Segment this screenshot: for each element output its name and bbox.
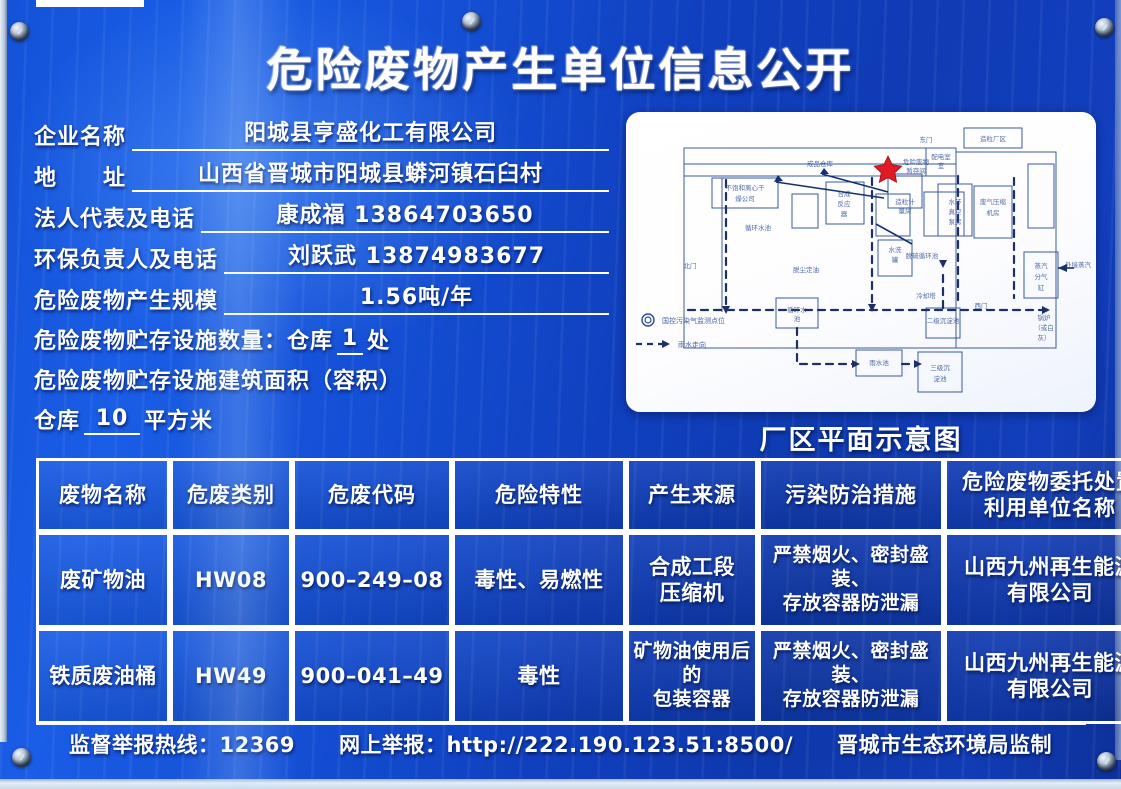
info-value-env-officer: 刘跃武 13874983677 — [224, 238, 609, 274]
svg-text:北门: 北门 — [684, 261, 697, 270]
svg-text:（或白: （或白 — [1034, 323, 1054, 332]
svg-text:锅炉: 锅炉 — [1038, 313, 1052, 322]
info-value-storage-count: 1 — [337, 326, 363, 355]
cell-waste-code: 900–249–08 — [292, 532, 452, 628]
info-unit-storage-area: 平方米 — [144, 403, 213, 435]
svg-text:反应: 反应 — [838, 199, 852, 208]
info-value-address: 山西省晋城市阳城县蟒河镇石臼村 — [132, 156, 609, 192]
svg-text:室: 室 — [938, 161, 945, 170]
svg-text:合成: 合成 — [838, 189, 852, 198]
cell-waste-code: 900–041–49 — [292, 628, 452, 724]
table-header-disposal-unit-line2: 利用单位名称 — [949, 495, 1121, 521]
info-row-storage-count: 危险废物贮存设施数量：仓库 1 处 — [34, 315, 609, 355]
info-label-company-name: 企业名称 — [34, 119, 126, 151]
cell-disposal-unit: 山西九州再生能源 有限公司 — [944, 532, 1121, 628]
cell-disposal-unit-line2: 有限公司 — [949, 676, 1121, 702]
cell-hazard-property: 毒性 — [452, 628, 626, 724]
svg-text:燥公司: 燥公司 — [735, 194, 755, 203]
svg-text:造粒厂区: 造粒厂区 — [980, 134, 1007, 143]
table-header-waste-name: 废物名称 — [36, 458, 170, 532]
svg-text:循环水: 循环水 — [787, 305, 807, 314]
svg-text:西门: 西门 — [975, 301, 988, 310]
cell-source-line2: 压缩机 — [631, 580, 753, 606]
table-header-source: 产生来源 — [626, 458, 758, 532]
cell-source: 矿物油使用后的 包装容器 — [626, 628, 758, 724]
table-header-row: 废物名称 危废类别 危废代码 危险特性 产生来源 污染防治措施 危险废物委托处置… — [36, 458, 1121, 532]
table-header-disposal-unit-line1: 危险废物委托处置 — [949, 469, 1121, 495]
svg-text:暂存间: 暂存间 — [906, 166, 926, 175]
table-header-pollution-control: 污染防治措施 — [758, 458, 944, 532]
cell-pollution-control-line1: 严禁烟火、密封盛装、 — [763, 544, 939, 592]
svg-text:循环水池: 循环水池 — [745, 223, 772, 232]
footer-online-report: 网上举报：http://222.190.123.51:8500/ — [339, 729, 793, 759]
svg-text:造粒计: 造粒计 — [895, 197, 915, 206]
footer-bar: 监督举报热线：12369 网上举报：http://222.190.123.51:… — [0, 729, 1121, 759]
svg-text:三级沉: 三级沉 — [930, 363, 950, 372]
svg-text:二级沉淀池: 二级沉淀池 — [927, 316, 960, 325]
info-value-legal-rep: 康成福 13864703650 — [201, 197, 609, 233]
diagram-caption-wrap: 厂区平面示意图 — [626, 418, 1096, 457]
table-header-waste-code: 危废代码 — [292, 458, 452, 532]
info-label-storage-area: 仓库 — [34, 403, 80, 435]
svg-text:缸: 缸 — [1038, 283, 1045, 292]
info-unit-storage-count: 处 — [367, 323, 390, 355]
info-value-company-name: 阳城县亨盛化工有限公司 — [132, 115, 609, 151]
svg-text:泵房: 泵房 — [949, 217, 962, 226]
cell-disposal-unit: 山西九州再生能源 有限公司 — [944, 628, 1121, 724]
info-label-generation-scale: 危险废物产生规模 — [34, 283, 218, 315]
cell-source-line2: 包装容器 — [631, 688, 753, 712]
svg-text:危险废物: 危险废物 — [903, 157, 930, 166]
cell-disposal-unit-line2: 有限公司 — [949, 580, 1121, 606]
info-label-env-officer: 环保负责人及电话 — [34, 242, 218, 274]
svg-text:灰）: 灰） — [1038, 333, 1051, 342]
cell-hazard-property: 毒性、易燃性 — [452, 532, 626, 628]
footer-hotline: 监督举报热线：12369 — [69, 729, 295, 759]
info-label-storage-count: 危险废物贮存设施数量：仓库 — [34, 323, 333, 355]
svg-text:成品仓库: 成品仓库 — [807, 159, 834, 168]
panel-edge-left — [0, 0, 7, 742]
table-header-hazard-property: 危险特性 — [452, 458, 626, 532]
info-row-storage-area-title: 危险废物贮存设施建筑面积（容积） — [34, 355, 609, 395]
svg-text:脱尘定油: 脱尘定油 — [793, 265, 819, 274]
svg-text:水洗: 水洗 — [889, 245, 903, 254]
cell-disposal-unit-line1: 山西九州再生能源 — [949, 554, 1121, 580]
svg-text:雨水池: 雨水池 — [869, 358, 889, 367]
table-header-disposal-unit: 危险废物委托处置 利用单位名称 — [944, 458, 1121, 532]
diagram-caption: 厂区平面示意图 — [760, 418, 963, 457]
table-row: 废矿物油 HW08 900–249–08 毒性、易燃性 合成工段 压缩机 严禁烟… — [36, 532, 1121, 628]
info-row-legal-rep: 法人代表及电话 康成福 13864703650 — [34, 192, 609, 233]
svg-text:冷却塔: 冷却塔 — [916, 291, 936, 300]
cell-waste-name: 铁质废油桶 — [36, 628, 170, 724]
legend-text-rainwater: 雨水走向 — [678, 340, 706, 349]
svg-text:不饱和离心干: 不饱和离心干 — [726, 183, 766, 192]
cell-source-line1: 合成工段 — [631, 554, 753, 580]
legend-text-monitor-point: 国控污染气监测点位 — [662, 316, 725, 325]
info-label-legal-rep: 法人代表及电话 — [34, 201, 195, 233]
svg-text:罐: 罐 — [892, 255, 899, 264]
cell-waste-name: 废矿物油 — [36, 532, 170, 628]
cell-pollution-control-line2: 存放容器防泄漏 — [763, 592, 939, 616]
cell-waste-category: HW49 — [170, 628, 292, 724]
screw-icon-top-center — [462, 12, 481, 31]
table-header-waste-category: 危废类别 — [170, 458, 292, 532]
cell-pollution-control-line1: 严禁烟火、密封盛装、 — [763, 640, 939, 688]
information-board: 危险废物产生单位信息公开 企业名称 阳城县亨盛化工有限公司 地 址 山西省晋城市… — [0, 0, 1121, 789]
panel-edge-bottom — [0, 779, 1121, 789]
info-label-address: 地 址 — [34, 160, 126, 192]
svg-text:机房: 机房 — [987, 208, 1000, 217]
panel-edge-top-trim — [36, 0, 144, 7]
svg-text:淀池: 淀池 — [934, 374, 948, 383]
cell-waste-category: HW08 — [170, 532, 292, 628]
cell-disposal-unit-line1: 山西九州再生能源 — [949, 650, 1121, 676]
page-title: 危险废物产生单位信息公开 — [0, 34, 1121, 100]
info-row-company-name: 企业名称 阳城县亨盛化工有限公司 — [34, 110, 609, 151]
svg-text:器: 器 — [841, 210, 848, 218]
hazardous-waste-table: 废物名称 危废类别 危废代码 危险特性 产生来源 污染防治措施 危险废物委托处置… — [36, 458, 1121, 724]
footer-authority: 晋城市生态环境局监制 — [837, 729, 1052, 759]
svg-text:水环: 水环 — [949, 197, 963, 206]
table-row: 铁质废油桶 HW49 900–041–49 毒性 矿物油使用后的 包装容器 严禁… — [36, 628, 1121, 724]
svg-text:配电室: 配电室 — [931, 152, 951, 161]
info-row-env-officer: 环保负责人及电话 刘跃武 13874983677 — [34, 233, 609, 274]
info-row-storage-area: 仓库 10 平方米 — [34, 395, 609, 435]
svg-text:量房: 量房 — [899, 206, 912, 215]
cell-source: 合成工段 压缩机 — [626, 532, 758, 628]
svg-text:东门: 东门 — [920, 135, 933, 144]
info-value-generation-scale: 1.56吨/年 — [224, 279, 609, 315]
info-value-storage-area: 10 — [84, 406, 140, 435]
cell-pollution-control: 严禁烟火、密封盛装、 存放容器防泄漏 — [758, 532, 944, 628]
info-row-address: 地 址 山西省晋城市阳城县蟒河镇石臼村 — [34, 151, 609, 192]
svg-text:废气压缩: 废气压缩 — [980, 197, 1007, 206]
plant-layout-drawing: 成品仓库 配电室 室 造粒厂区 东门 危险废物 暂存间 不饱和离心干 燥公司 造… — [626, 112, 1096, 412]
svg-text:外接蒸汽: 外接蒸汽 — [1065, 260, 1092, 269]
cell-source-line1: 矿物油使用后的 — [631, 640, 753, 688]
svg-text:分气: 分气 — [1035, 272, 1049, 281]
svg-text:蒸汽: 蒸汽 — [1035, 261, 1049, 270]
company-info-block: 企业名称 阳城县亨盛化工有限公司 地 址 山西省晋城市阳城县蟒河镇石臼村 法人代… — [34, 110, 609, 435]
cell-pollution-control: 严禁烟火、密封盛装、 存放容器防泄漏 — [758, 628, 944, 724]
cell-pollution-control-line2: 存放容器防泄漏 — [763, 688, 939, 712]
footer-divider — [36, 722, 1086, 725]
svg-text:真空: 真空 — [949, 207, 963, 216]
plant-layout-diagram: 成品仓库 配电室 室 造粒厂区 东门 危险废物 暂存间 不饱和离心干 燥公司 造… — [626, 112, 1096, 412]
info-row-generation-scale: 危险废物产生规模 1.56吨/年 — [34, 274, 609, 315]
svg-text:池: 池 — [794, 314, 801, 323]
svg-text:脱硫循环池: 脱硫循环池 — [906, 251, 939, 260]
info-label-storage-area-title: 危险废物贮存设施建筑面积（容积） — [34, 363, 402, 395]
